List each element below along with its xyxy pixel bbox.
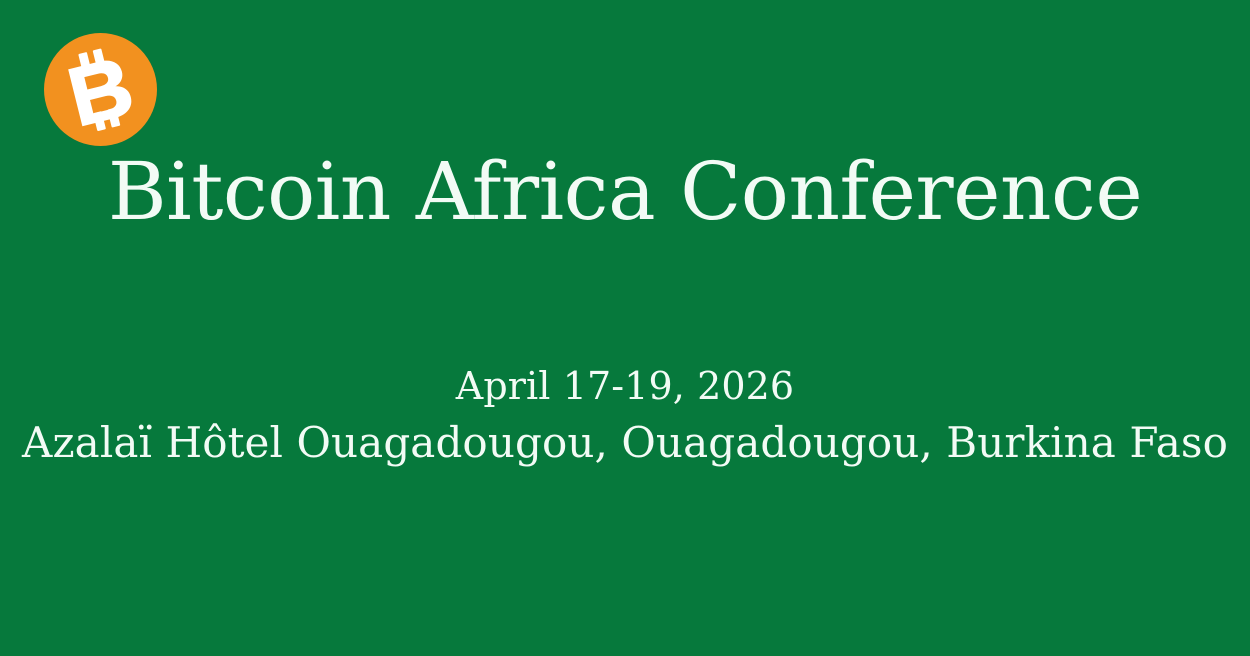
event-banner-card: Bitcoin Africa Conference April 17-19, 2… <box>0 0 1250 656</box>
event-details-block: April 17-19, 2026 Azalaï Hôtel Ouagadoug… <box>0 364 1250 467</box>
event-venue: Azalaï Hôtel Ouagadougou, Ouagadougou, B… <box>0 419 1250 467</box>
page-title: Bitcoin Africa Conference <box>0 150 1250 235</box>
event-date: April 17-19, 2026 <box>0 364 1250 409</box>
bitcoin-b-glyph <box>44 33 157 146</box>
title-block: Bitcoin Africa Conference <box>0 150 1250 235</box>
bitcoin-logo-icon <box>44 33 157 146</box>
